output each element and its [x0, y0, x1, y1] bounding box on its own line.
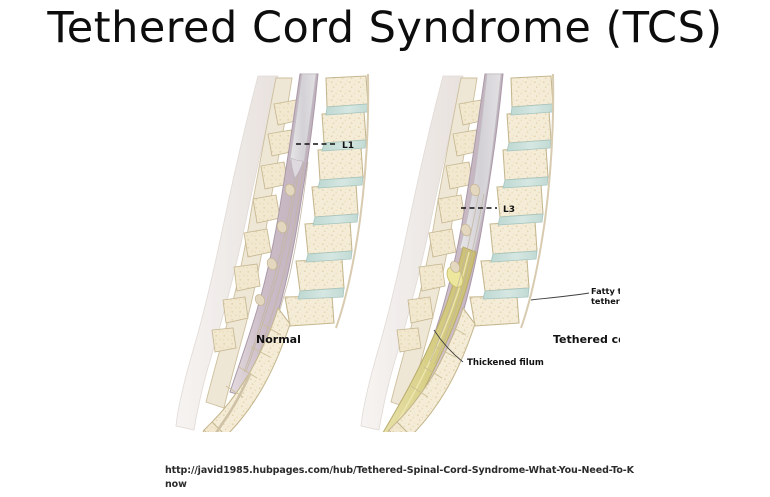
- annotation-fatty-tissue-line2: tether the filum: [591, 296, 620, 306]
- panel-caption-normal: Normal: [256, 333, 301, 346]
- level-label-normal: L1: [342, 141, 354, 151]
- annotation-thickened-filum-label: Thickened filum: [467, 358, 544, 368]
- panel-caption-tethered: Tethered cord: [553, 333, 620, 346]
- spine-comparison-figure: L1 Normal: [150, 62, 620, 432]
- annotation-fatty-tissue: Fatty tissue may tether the filum: [531, 286, 620, 306]
- page-title: Tethered Cord Syndrome (TCS): [0, 2, 770, 54]
- level-label-tethered: L3: [503, 205, 515, 215]
- slide-canvas: Tethered Cord Syndrome (TCS): [0, 0, 770, 497]
- panel-normal: L1 Normal: [176, 74, 368, 432]
- source-url-caption: http://javid1985.hubpages.com/hub/Tether…: [165, 464, 635, 492]
- panel-tethered: L3 Fatty tissue may tether the filum Thi…: [361, 74, 620, 432]
- annotation-fatty-tissue-line1: Fatty tissue may: [591, 286, 620, 296]
